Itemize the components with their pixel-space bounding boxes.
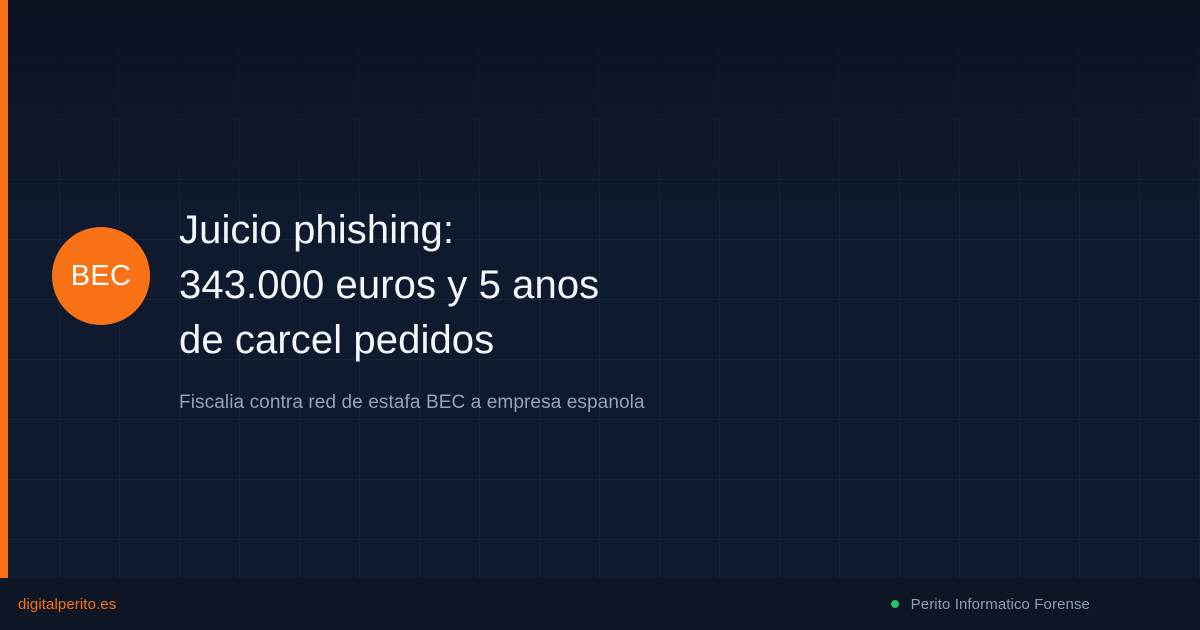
social-share-card: BEC Juicio phishing: 343.000 euros y 5 a… — [0, 0, 1200, 630]
footer-tagline-group: Perito Informatico Forense — [891, 596, 1090, 613]
card-content: BEC Juicio phishing: 343.000 euros y 5 a… — [0, 0, 1200, 578]
bec-badge: BEC — [52, 227, 150, 325]
left-accent-bar — [0, 0, 8, 578]
footer-brand-link[interactable]: digitalperito.es — [18, 596, 116, 613]
status-dot-icon — [891, 600, 899, 608]
bec-badge-label: BEC — [71, 262, 132, 291]
card-footer: digitalperito.es Perito Informatico Fore… — [0, 578, 1200, 630]
page-subtitle: Fiscalia contra red de estafa BEC a empr… — [179, 390, 1059, 416]
page-title: Juicio phishing: 343.000 euros y 5 anos … — [179, 203, 1059, 368]
footer-tagline-label: Perito Informatico Forense — [911, 596, 1090, 613]
text-block: Juicio phishing: 343.000 euros y 5 anos … — [179, 203, 1059, 416]
